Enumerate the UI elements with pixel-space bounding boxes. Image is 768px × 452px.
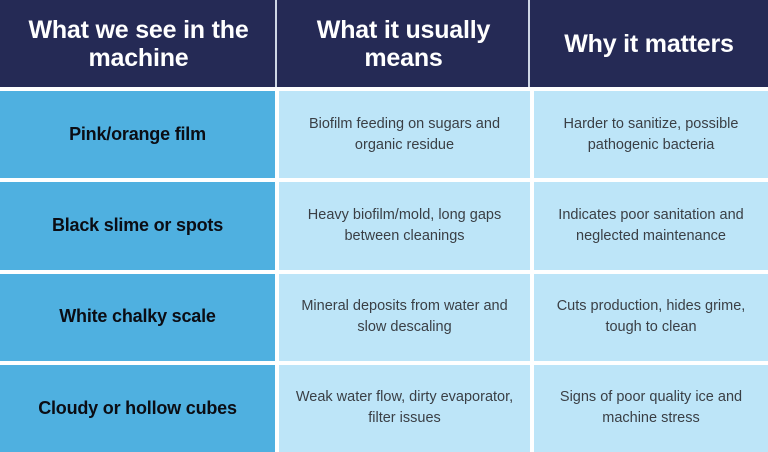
table-body: Pink/orange film Biofilm feeding on suga…: [0, 87, 768, 452]
row-importance-text: Indicates poor sanitation and neglected …: [548, 205, 754, 247]
row-label-cell: White chalky scale: [0, 274, 275, 361]
row-importance-text: Signs of poor quality ice and machine st…: [548, 387, 754, 429]
row-meaning-text: Weak water flow, dirty evaporator, filte…: [295, 387, 514, 429]
row-meaning-cell: Biofilm feeding on sugars and organic re…: [279, 91, 530, 178]
column-header-what-it-means-label: What it usually means: [291, 16, 516, 72]
row-label-cell: Black slime or spots: [0, 182, 275, 269]
row-label-text: White chalky scale: [12, 306, 263, 328]
row-importance-text: Harder to sanitize, possible pathogenic …: [548, 114, 754, 156]
row-importance-cell: Harder to sanitize, possible pathogenic …: [534, 91, 768, 178]
column-header-what-it-means: What it usually means: [277, 0, 530, 87]
row-importance-cell: Signs of poor quality ice and machine st…: [534, 365, 768, 452]
row-importance-cell: Cuts production, hides grime, tough to c…: [534, 274, 768, 361]
row-meaning-cell: Mineral deposits from water and slow des…: [279, 274, 530, 361]
column-header-what-we-see-label: What we see in the machine: [14, 16, 263, 72]
row-meaning-text: Heavy biofilm/mold, long gaps between cl…: [295, 205, 514, 247]
column-header-why-it-matters-label: Why it matters: [544, 30, 754, 58]
row-meaning-cell: Weak water flow, dirty evaporator, filte…: [279, 365, 530, 452]
table-row: Pink/orange film Biofilm feeding on suga…: [0, 87, 768, 178]
table-row: Cloudy or hollow cubes Weak water flow, …: [0, 361, 768, 452]
table-row: Black slime or spots Heavy biofilm/mold,…: [0, 178, 768, 269]
row-label-text: Cloudy or hollow cubes: [12, 398, 263, 420]
table-header-row: What we see in the machine What it usual…: [0, 0, 768, 87]
row-label-cell: Cloudy or hollow cubes: [0, 365, 275, 452]
column-header-what-we-see: What we see in the machine: [0, 0, 277, 87]
row-label-cell: Pink/orange film: [0, 91, 275, 178]
row-label-text: Black slime or spots: [12, 215, 263, 237]
comparison-table: What we see in the machine What it usual…: [0, 0, 768, 452]
row-meaning-text: Biofilm feeding on sugars and organic re…: [295, 114, 514, 156]
row-importance-text: Cuts production, hides grime, tough to c…: [548, 296, 754, 338]
row-meaning-cell: Heavy biofilm/mold, long gaps between cl…: [279, 182, 530, 269]
row-label-text: Pink/orange film: [12, 124, 263, 146]
table-row: White chalky scale Mineral deposits from…: [0, 270, 768, 361]
column-header-why-it-matters: Why it matters: [530, 0, 768, 87]
row-importance-cell: Indicates poor sanitation and neglected …: [534, 182, 768, 269]
row-meaning-text: Mineral deposits from water and slow des…: [295, 296, 514, 338]
